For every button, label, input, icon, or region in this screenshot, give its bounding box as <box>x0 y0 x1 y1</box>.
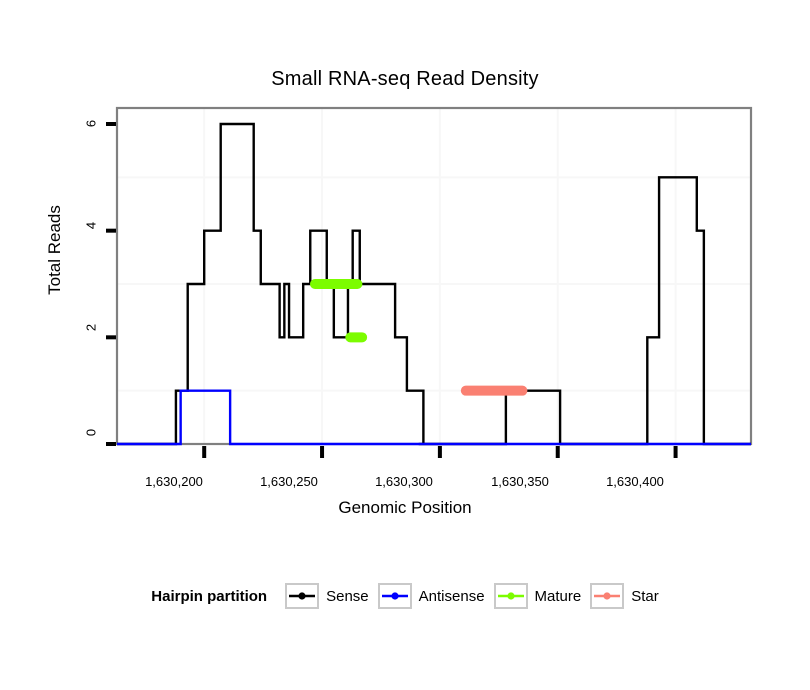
legend-label-star: Star <box>631 588 659 605</box>
chart-figure: Small RNA-seq Read Density Total Reads 0… <box>0 0 810 690</box>
legend-key-mature <box>494 583 528 609</box>
legend-title: Hairpin partition <box>151 588 267 605</box>
legend-key-sense <box>285 583 319 609</box>
legend-item-mature[interactable]: Mature <box>494 583 582 609</box>
chart-legend: Hairpin partition Sense Antisense <box>0 583 810 609</box>
legend-label-sense: Sense <box>326 588 369 605</box>
star-marker-icon <box>593 589 621 603</box>
legend-item-sense[interactable]: Sense <box>285 583 369 609</box>
legend-label-mature: Mature <box>535 588 582 605</box>
plot-frame-group <box>117 108 751 444</box>
sense-marker-icon <box>288 589 316 603</box>
antisense-marker-icon <box>381 589 409 603</box>
legend-key-star <box>590 583 624 609</box>
legend-key-antisense <box>378 583 412 609</box>
legend-item-star[interactable]: Star <box>590 583 659 609</box>
legend-item-antisense[interactable]: Antisense <box>378 583 485 609</box>
legend-label-antisense: Antisense <box>419 588 485 605</box>
mature-marker-icon <box>497 589 525 603</box>
plot-background <box>117 108 751 444</box>
